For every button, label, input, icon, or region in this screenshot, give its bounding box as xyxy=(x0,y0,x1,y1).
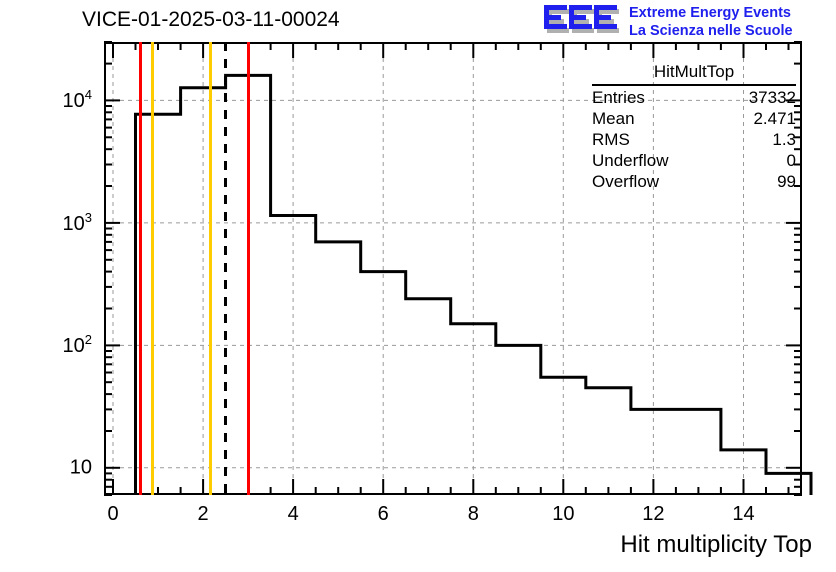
stats-key: Entries xyxy=(592,87,645,108)
stats-value: 99 xyxy=(777,171,796,192)
stats-divider xyxy=(592,84,796,86)
y-tick-label-103: 103 xyxy=(30,210,92,236)
stats-row-mean: Mean2.471 xyxy=(592,108,796,129)
x-tick-label-14: 14 xyxy=(732,503,754,526)
stats-key: Mean xyxy=(592,108,635,129)
x-tick-label-2: 2 xyxy=(198,503,209,526)
eee-logo-line2: La Scienza nelle Scuole xyxy=(629,22,793,40)
marker-line-orange-low xyxy=(151,42,154,495)
x-tick-label-10: 10 xyxy=(552,503,574,526)
x-tick-label-12: 12 xyxy=(642,503,664,526)
page-title: VICE-01-2025-03-11-00024 xyxy=(82,8,340,32)
stats-key: Underflow xyxy=(592,150,669,171)
stats-row-underflow: Underflow0 xyxy=(592,150,796,171)
stats-value: 0 xyxy=(787,150,796,171)
eee-logo-mark xyxy=(543,3,623,39)
y-tick-label-104: 104 xyxy=(30,88,92,114)
eee-logo-text: Extreme Energy Events La Scienza nelle S… xyxy=(629,4,793,40)
stats-title: HitMultTop xyxy=(592,62,796,83)
x-tick-label-0: 0 xyxy=(107,503,118,526)
x-tick-label-4: 4 xyxy=(288,503,299,526)
stats-row-overflow: Overflow99 xyxy=(592,171,796,192)
stats-value: 1.3 xyxy=(772,129,796,150)
eee-logo: Extreme Energy Events La Scienza nelle S… xyxy=(543,2,833,42)
stats-row-entries: Entries37332 xyxy=(592,87,796,108)
marker-line-red-low xyxy=(139,42,142,495)
x-axis-title: Hit multiplicity Top xyxy=(620,531,812,559)
eee-logo-line1: Extreme Energy Events xyxy=(629,4,793,22)
marker-line-orange-high xyxy=(209,42,212,495)
root-canvas: VICE-01-2025-03-11-00024 xyxy=(0,0,836,572)
stats-value: 37332 xyxy=(749,87,796,108)
stats-row-rms: RMS1.3 xyxy=(592,129,796,150)
stats-key: RMS xyxy=(592,129,630,150)
stats-value: 2.471 xyxy=(753,108,796,129)
x-tick-label-6: 6 xyxy=(378,503,389,526)
marker-line-red-high xyxy=(247,42,250,495)
stats-key: Overflow xyxy=(592,171,659,192)
marker-line-mean-line xyxy=(224,42,227,495)
y-tick-label-10: 10 xyxy=(30,456,92,479)
x-tick-label-8: 8 xyxy=(468,503,479,526)
stats-box: HitMultTop Entries37332Mean2.471RMS1.3Un… xyxy=(592,62,796,192)
y-tick-label-102: 102 xyxy=(30,333,92,359)
